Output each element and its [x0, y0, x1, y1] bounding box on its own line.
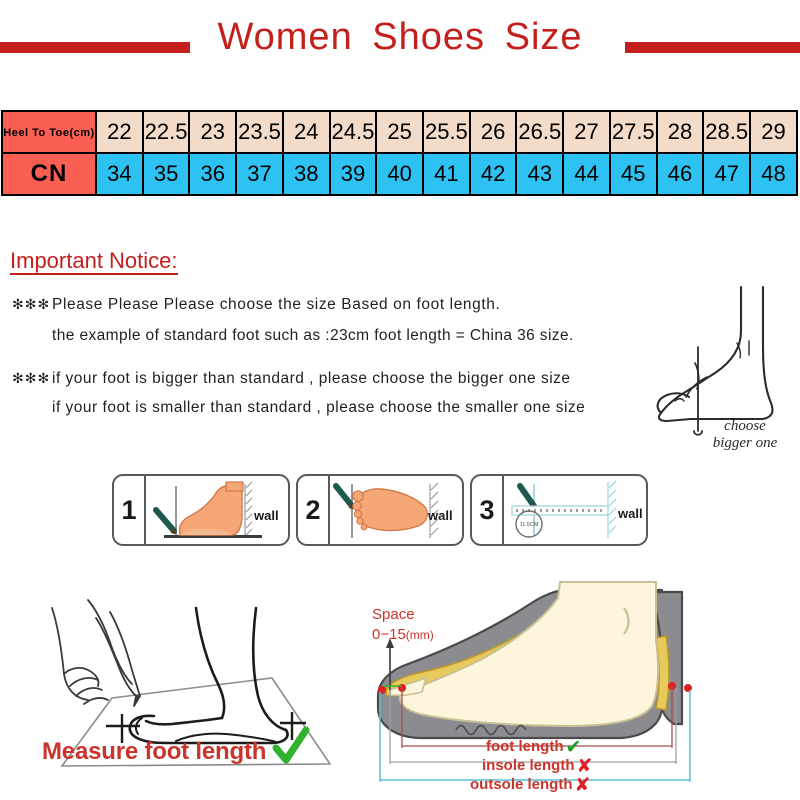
choose-caption-line-1: choose — [690, 418, 800, 435]
measure-foot-length-caption: Measure foot length — [42, 738, 266, 766]
space-label-line-1: Space — [372, 605, 434, 625]
row-header-heel-to-toe: Heel To Toe(cm) — [2, 111, 96, 153]
cm-cell: 23.5 — [236, 111, 283, 153]
cm-cell: 27 — [563, 111, 610, 153]
cross-icon: ✘ — [575, 777, 591, 795]
step-3-magnifier-reading: 11.5CM — [520, 522, 539, 528]
cm-cell: 24 — [283, 111, 330, 153]
space-label: Space 0−15(mm) — [372, 605, 434, 645]
important-notice-heading: Important Notice: — [10, 249, 178, 275]
row-header-cn-label: CN — [31, 160, 68, 187]
notice-line-3-text: if your foot is bigger than standard , p… — [52, 370, 571, 387]
measure-foot-illustration-icon — [0, 578, 360, 800]
notice-text-block: ✻✻✻Please Please Please choose the size … — [12, 292, 692, 420]
cn-cell: 35 — [143, 153, 190, 195]
cn-cell: 43 — [516, 153, 563, 195]
cn-cell: 46 — [657, 153, 704, 195]
cm-cell: 25.5 — [423, 111, 470, 153]
cn-cell: 48 — [750, 153, 797, 195]
table-row-cm: Heel To Toe(cm) 22 22.5 23 23.5 24 24.5 … — [2, 111, 797, 153]
asterisk-icon: ✻✻✻ — [12, 292, 52, 317]
length-legend: foot length✔ insole length✘ outsole leng… — [470, 738, 770, 795]
cm-cell: 24.5 — [330, 111, 377, 153]
cn-cell: 45 — [610, 153, 657, 195]
notice-line-4-text: if your foot is smaller than standard , … — [52, 399, 585, 416]
notice-line-2: the example of standard foot such as :23… — [12, 323, 692, 348]
title-word-2: Shoes — [372, 16, 485, 58]
step-number-3: 3 — [472, 476, 504, 544]
page-header: Women Shoes Size — [0, 0, 800, 95]
cm-cell: 23 — [189, 111, 236, 153]
step-1-wall-label: wall — [254, 508, 279, 523]
cm-cell: 29 — [750, 111, 797, 153]
check-icon: ✔ — [565, 739, 581, 757]
size-chart-page: Women Shoes Size Heel To Toe(cm) 22 22.5… — [0, 0, 800, 800]
cm-cell: 26 — [470, 111, 517, 153]
title-word-3: Size — [505, 16, 583, 58]
cn-cell: 42 — [470, 153, 517, 195]
cn-cell: 40 — [376, 153, 423, 195]
space-label-unit: (mm) — [406, 628, 434, 642]
choose-caption-line-2: bigger one — [690, 435, 800, 452]
legend-label-outsole-length: outsole length — [470, 776, 573, 793]
notice-line-4: if your foot is smaller than standard , … — [12, 395, 692, 420]
step-3-wall-label: wall — [618, 506, 643, 521]
cn-cell: 47 — [703, 153, 750, 195]
size-conversion-table: Heel To Toe(cm) 22 22.5 23 23.5 24 24.5 … — [1, 110, 798, 196]
row-header-cn: CN — [2, 153, 96, 195]
notice-line-1: ✻✻✻Please Please Please choose the size … — [12, 292, 692, 317]
row-header-heel-to-toe-label: Heel To Toe(cm) — [3, 127, 94, 139]
cm-cell: 28.5 — [703, 111, 750, 153]
cm-cell: 22.5 — [143, 111, 190, 153]
cn-cell: 38 — [283, 153, 330, 195]
legend-label-foot-length: foot length — [486, 738, 563, 755]
cross-icon: ✘ — [577, 758, 593, 776]
cm-cell: 26.5 — [516, 111, 563, 153]
cm-cell: 25 — [376, 111, 423, 153]
page-title: Women Shoes Size — [0, 16, 800, 59]
legend-label-insole-length: insole length — [482, 757, 575, 774]
step-panel-2: 2 — [296, 474, 464, 546]
legend-row-foot-length: foot length✔ — [470, 738, 770, 757]
space-label-range: 0−15 — [372, 626, 406, 643]
cn-cell: 37 — [236, 153, 283, 195]
legend-row-insole-length: insole length✘ — [470, 757, 770, 776]
step-number-2: 2 — [298, 476, 330, 544]
notice-line-1-text: Please Please Please choose the size Bas… — [52, 296, 500, 313]
cn-cell: 41 — [423, 153, 470, 195]
cn-cell: 36 — [189, 153, 236, 195]
step-panel-1: 1 — [112, 474, 290, 546]
cn-cell: 44 — [563, 153, 610, 195]
cn-cell: 39 — [330, 153, 377, 195]
asterisk-icon: ✻✻✻ — [12, 366, 52, 391]
step-number-1: 1 — [114, 476, 146, 544]
cm-cell: 28 — [657, 111, 704, 153]
table-row-cn: CN 34 35 36 37 38 39 40 41 42 43 44 45 4… — [2, 153, 797, 195]
measurement-steps: 1 — [0, 472, 800, 552]
step-panel-3: 3 — [470, 474, 648, 546]
cm-cell: 27.5 — [610, 111, 657, 153]
choose-bigger-one-caption: choose bigger one — [690, 418, 800, 452]
legend-row-outsole-length: outsole length✘ — [470, 776, 770, 795]
step-2-wall-label: wall — [428, 508, 453, 523]
cn-cell: 34 — [96, 153, 143, 195]
title-word-1: Women — [217, 16, 352, 58]
notice-line-3: ✻✻✻if your foot is bigger than standard … — [12, 366, 692, 391]
notice-line-2-text: the example of standard foot such as :23… — [52, 327, 574, 344]
cm-cell: 22 — [96, 111, 143, 153]
